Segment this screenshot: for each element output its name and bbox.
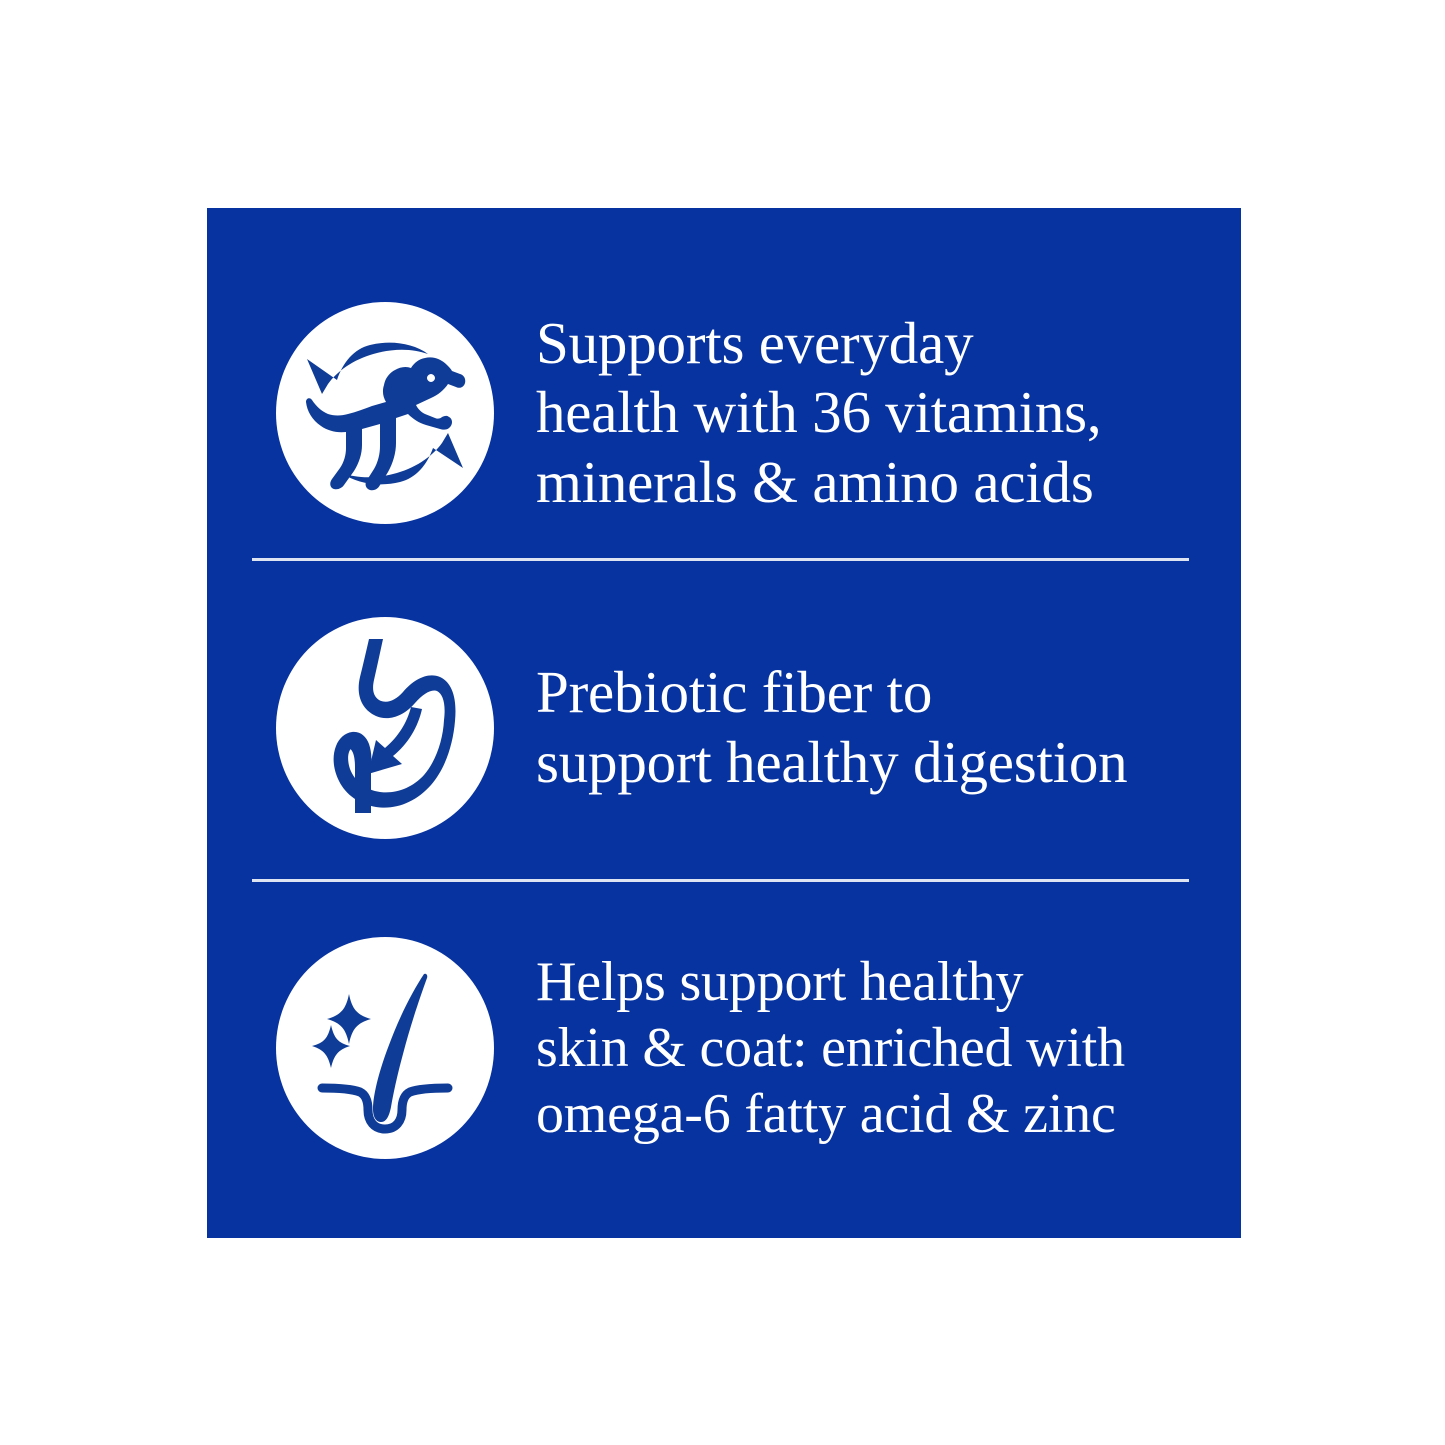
benefit-icon-wrap (276, 302, 494, 524)
benefit-text: Helps support healthy skin & coat: enric… (536, 949, 1241, 1147)
benefit-icon-wrap (276, 617, 494, 839)
benefits-panel: Supports everyday health with 36 vitamin… (207, 208, 1241, 1238)
section-divider (252, 558, 1189, 561)
benefit-row: Prebiotic fiber to support healthy diges… (207, 613, 1241, 843)
benefit-text: Prebiotic fiber to support healthy diges… (536, 658, 1241, 797)
leaping-dog-cycle-icon (276, 302, 494, 524)
product-benefits-graphic: Supports everyday health with 36 vitamin… (0, 0, 1445, 1445)
hair-follicle-sparkle-icon (276, 937, 494, 1159)
benefit-row: Supports everyday health with 36 vitamin… (207, 298, 1241, 528)
stomach-digestion-arrow-icon (276, 617, 494, 839)
benefit-icon-wrap (276, 937, 494, 1159)
benefit-text: Supports everyday health with 36 vitamin… (536, 309, 1241, 518)
benefit-row: Helps support healthy skin & coat: enric… (207, 923, 1241, 1173)
section-divider (252, 879, 1189, 882)
